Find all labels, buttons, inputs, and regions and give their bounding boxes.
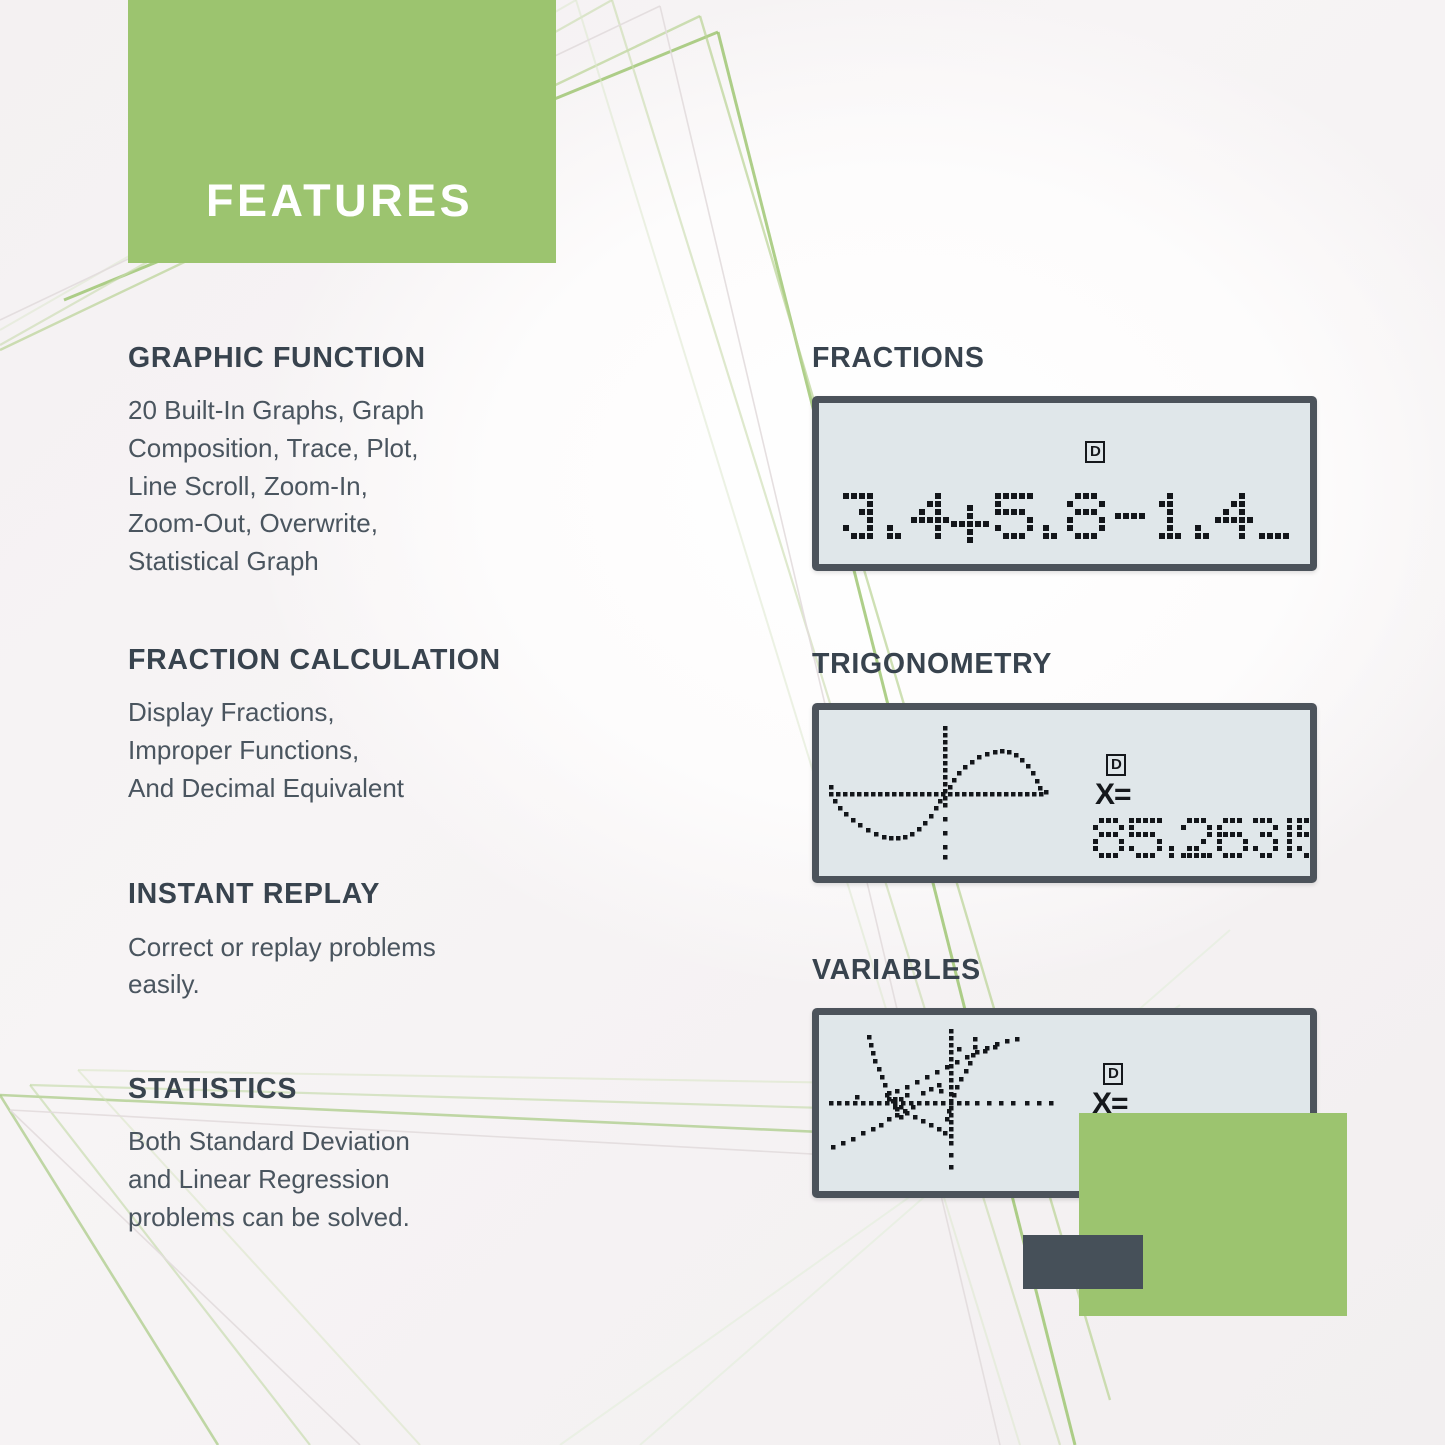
- feature-item-statistics: STATISTICS Both Standard Deviation and L…: [128, 1074, 728, 1236]
- feature-list: GRAPHIC FUNCTION 20 Built-In Graphs, Gra…: [128, 343, 728, 1236]
- poster-canvas: FEATURES GRAPHIC FUNCTION 20 Built-In Gr…: [0, 0, 1445, 1445]
- feature-item-graphic-function: GRAPHIC FUNCTION 20 Built-In Graphs, Gra…: [128, 343, 728, 581]
- feature-title: FRACTION CALCULATION: [128, 645, 728, 676]
- feature-title: STATISTICS: [128, 1074, 728, 1105]
- multi-line-graph-icon: [825, 1027, 1085, 1182]
- dark-accent-tab: [1023, 1235, 1143, 1289]
- lcd-display-trigonometry: D X=: [812, 703, 1317, 883]
- features-hero-block: FEATURES: [128, 0, 556, 263]
- feature-body: Display Fractions, Improper Functions, A…: [128, 694, 728, 807]
- degree-mode-icon: D: [1103, 1063, 1123, 1085]
- feature-body: Both Standard Deviation and Linear Regre…: [128, 1123, 728, 1236]
- feature-item-instant-replay: INSTANT REPLAY Correct or replay problem…: [128, 879, 728, 1004]
- feature-body: 20 Built-In Graphs, Graph Composition, T…: [128, 392, 728, 580]
- panel-title-variables: VARIABLES: [812, 955, 1332, 986]
- lcd-screen: D X=: [819, 710, 1310, 876]
- panel-title-fractions: FRACTIONS: [812, 343, 1332, 374]
- degree-mode-icon: D: [1085, 441, 1105, 463]
- display-panel-list: FRACTIONS D: [812, 343, 1332, 1198]
- lcd-expression-dotmatrix: [839, 493, 1299, 553]
- lcd-value-dotmatrix-trig: [1093, 818, 1298, 864]
- degree-mode-icon: D: [1106, 754, 1126, 776]
- page-title: FEATURES: [128, 178, 473, 263]
- lcd-display-fractions: D: [812, 396, 1317, 571]
- sine-wave-graph-icon: [825, 724, 1085, 864]
- lcd-value-dotmatrix-trig-tail: [1297, 818, 1310, 864]
- lcd-screen: D: [819, 403, 1310, 564]
- lcd-x-label: X=: [1095, 780, 1131, 810]
- feature-body: Correct or replay problems easily.: [128, 929, 728, 1004]
- feature-title: INSTANT REPLAY: [128, 879, 728, 910]
- feature-title: GRAPHIC FUNCTION: [128, 343, 728, 374]
- feature-item-fraction-calculation: FRACTION CALCULATION Display Fractions, …: [128, 645, 728, 807]
- panel-title-trigonometry: TRIGONOMETRY: [812, 649, 1332, 680]
